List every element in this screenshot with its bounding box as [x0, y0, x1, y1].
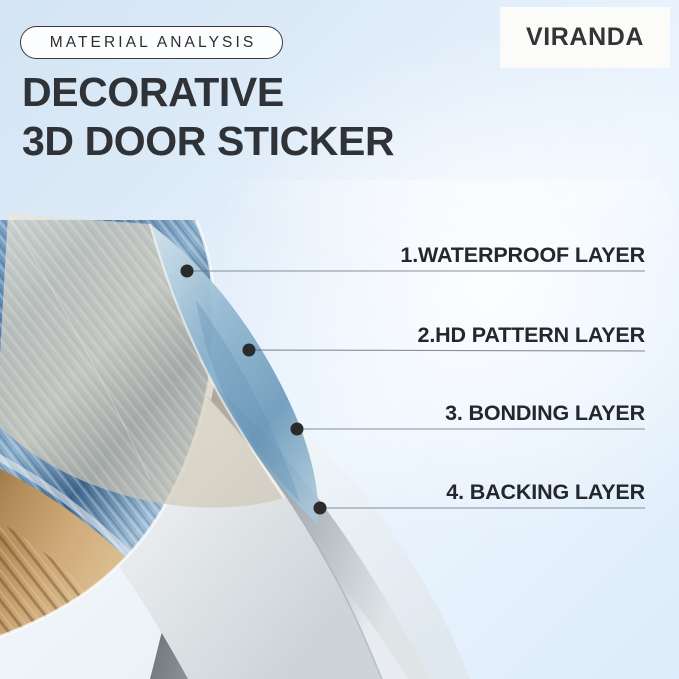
brand-name: VIRANDA [526, 23, 644, 52]
callout-label-2: 2.HD PATTERN LAYER [418, 323, 645, 351]
material-analysis-badge: MATERIAL ANALYSIS [20, 26, 283, 59]
callout-label-4: 4. BACKING LAYER [446, 480, 645, 508]
page-title: DECORATIVE 3D DOOR STICKER [22, 72, 492, 161]
callout-bonding: 3. BONDING LAYER [245, 401, 645, 429]
title-line-1: DECORATIVE [22, 72, 492, 112]
callout-label-3: 3. BONDING LAYER [445, 401, 645, 429]
callout-hd-pattern: 2.HD PATTERN LAYER [245, 323, 645, 351]
brand-logo: VIRANDA [500, 7, 670, 68]
callout-backing: 4. BACKING LAYER [245, 480, 645, 508]
title-line-2: 3D DOOR STICKER [22, 121, 492, 161]
poster-canvas: MATERIAL ANALYSIS DECORATIVE 3D DOOR STI… [0, 0, 679, 679]
badge-label: MATERIAL ANALYSIS [47, 34, 257, 52]
callout-label-1: 1.WATERPROOF LAYER [400, 243, 645, 271]
callout-waterproof: 1.WATERPROOF LAYER [245, 243, 645, 271]
